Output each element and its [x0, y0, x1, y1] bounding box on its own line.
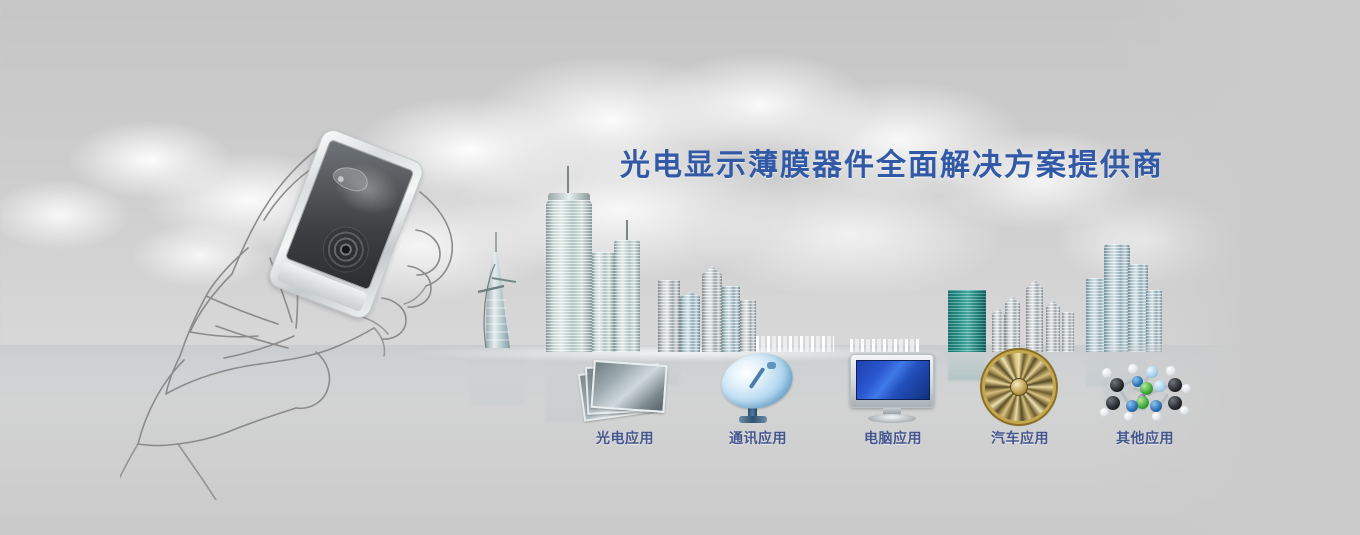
distant-lowrise-left: [756, 336, 834, 352]
hand-sketch-svg: [120, 120, 480, 500]
hand-holding-phone-lineart: [120, 120, 480, 500]
building-right-5: [1062, 312, 1074, 352]
distant-lowrise-mid: [850, 339, 920, 352]
application-item-optoelectronic[interactable]: 光电应用: [560, 352, 690, 448]
building-right-1: [992, 308, 1005, 352]
dish-lnb: [767, 362, 776, 369]
glass-panels-icon: [560, 352, 690, 424]
monitor-screen: [856, 360, 930, 400]
building-secondary-b: [614, 240, 640, 352]
computer-monitor-icon: [828, 352, 958, 424]
application-icon-row: 光电应用 通讯应用: [560, 352, 1210, 462]
application-item-other[interactable]: 其他应用: [1080, 352, 1210, 448]
application-item-computer[interactable]: 电脑应用: [828, 352, 958, 448]
application-item-communication[interactable]: 通讯应用: [693, 352, 823, 448]
building-secondary-a: [592, 252, 614, 352]
building-right-2: [1005, 296, 1020, 352]
tower-antenna-mast: [626, 220, 628, 240]
application-caption: 其他应用: [1080, 428, 1210, 448]
building-right-tall-c: [1128, 264, 1148, 352]
hero-banner: 光电显示薄膜器件全面解决方案提供商 光电应用: [0, 0, 1360, 535]
building-teal-block: [948, 290, 986, 352]
monitor-stand: [868, 414, 916, 423]
tower-crown: [548, 193, 590, 200]
application-caption: 通讯应用: [693, 428, 823, 448]
application-caption: 汽车应用: [955, 428, 1085, 448]
building-mid-1: [658, 280, 680, 352]
building-main-tower: [546, 200, 592, 352]
application-caption: 电脑应用: [828, 428, 958, 448]
wheel-rim: [985, 353, 1053, 421]
phone-screen-blob: [330, 162, 371, 195]
phone-touch-ripple-icon: [316, 220, 375, 279]
building-mid-3: [702, 266, 722, 352]
monitor-body: [850, 354, 934, 408]
dish-base: [739, 416, 767, 423]
car-wheel-icon: [955, 352, 1085, 424]
application-caption: 光电应用: [560, 428, 690, 448]
building-right-3: [1026, 280, 1043, 352]
satellite-dish-icon: [693, 352, 823, 424]
page-title: 光电显示薄膜器件全面解决方案提供商: [620, 140, 1164, 184]
building-mid-5: [740, 300, 756, 352]
building-mid-2: [680, 292, 700, 352]
wheel-hub: [1011, 379, 1027, 395]
application-item-automotive[interactable]: 汽车应用: [955, 352, 1085, 448]
building-mid-4: [722, 286, 740, 352]
building-right-tall-b: [1104, 244, 1130, 352]
building-right-tall-d: [1146, 290, 1162, 352]
molecule-icon: [1080, 352, 1210, 424]
building-right-4: [1046, 300, 1060, 352]
